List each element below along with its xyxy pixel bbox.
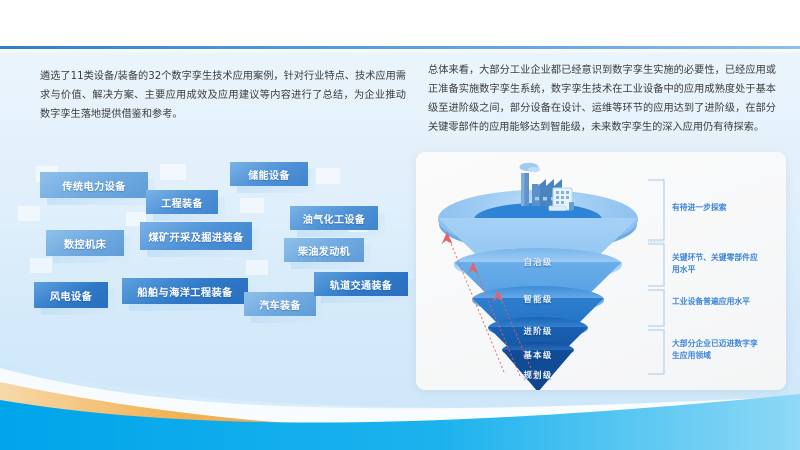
funnel-label-1: 智能级	[438, 293, 638, 305]
ghost-block	[160, 164, 186, 180]
equipment-tag-cloud: 传统电力设备工程装备储能设备油气化工设备数控机床煤矿开采及掘进装备柴油发动机风电…	[18, 160, 418, 325]
equipment-tag-label: 柴油发动机	[298, 243, 350, 258]
bottom-wave-decoration	[0, 360, 800, 450]
equipment-tag-9[interactable]: 汽车装备	[244, 292, 316, 316]
funnel-annotations: 有待进一步探索 关键环节、关键零部件应用水平 工业设备普遍应用水平 大部分企业已…	[648, 178, 784, 378]
equipment-tag-label: 轨道交通装备	[330, 277, 392, 292]
equipment-tag-4[interactable]: 数控机床	[46, 230, 124, 256]
funnel-chart: 自治级 智能级 进阶级 基本级 规划级	[438, 156, 638, 386]
equipment-tag-label: 煤矿开采及掘进装备	[148, 229, 243, 244]
equipment-tag-3[interactable]: 油气化工设备	[290, 206, 378, 230]
equipment-tag-label: 数控机床	[64, 236, 106, 251]
annotation-3: 大部分企业已迈进数字孪生应用领域	[672, 338, 758, 362]
equipment-tag-1[interactable]: 工程装备	[146, 190, 218, 214]
equipment-tag-label: 风电设备	[50, 288, 92, 303]
equipment-tag-8[interactable]: 船舶与海洋工程装备	[122, 278, 248, 304]
annotation-1: 关键环节、关键零部件应用水平	[672, 252, 758, 276]
equipment-tag-6[interactable]: 柴油发动机	[284, 238, 364, 262]
ghost-block	[30, 258, 52, 273]
slide-header	[0, 0, 800, 48]
equipment-tag-label: 储能设备	[248, 167, 290, 182]
ghost-block	[316, 168, 340, 184]
maturity-funnel-card: 自治级 智能级 进阶级 基本级 规划级	[416, 152, 786, 390]
equipment-tag-10[interactable]: 轨道交通装备	[314, 272, 408, 296]
annotation-0: 有待进一步探索	[672, 202, 758, 214]
equipment-tag-label: 工程装备	[161, 195, 203, 210]
equipment-tag-7[interactable]: 风电设备	[34, 282, 108, 308]
equipment-tag-label: 传统电力设备	[62, 178, 126, 193]
intro-paragraph-right: 总体来看，大部分工业企业都已经意识到数字孪生实施的必要性，已经应用或正准备实施数…	[428, 62, 776, 138]
equipment-tag-0[interactable]: 传统电力设备	[40, 172, 148, 198]
funnel-label-2: 进阶级	[438, 325, 638, 337]
ghost-block	[18, 206, 40, 221]
ghost-block	[246, 260, 268, 275]
slide-canvas: cic ★ （六）重点工业设备典型应用案例（续） 遴选了11类设备/装备的32个…	[0, 0, 800, 450]
equipment-tag-label: 汽车装备	[259, 297, 301, 312]
equipment-tag-2[interactable]: 储能设备	[230, 162, 308, 186]
equipment-tag-label: 油气化工设备	[303, 211, 365, 226]
header-divider	[0, 46, 800, 49]
equipment-tag-5[interactable]: 煤矿开采及掘进装备	[140, 222, 252, 250]
factory-icon	[510, 162, 580, 214]
intro-paragraph-left: 遴选了11类设备/装备的32个数字孪生技术应用案例，针对行业特点、技术应用需求与…	[40, 68, 406, 125]
ghost-block	[240, 198, 264, 213]
equipment-tag-label: 船舶与海洋工程装备	[137, 284, 232, 299]
annotation-2: 工业设备普遍应用水平	[672, 296, 758, 308]
funnel-label-0: 自治级	[438, 256, 638, 268]
